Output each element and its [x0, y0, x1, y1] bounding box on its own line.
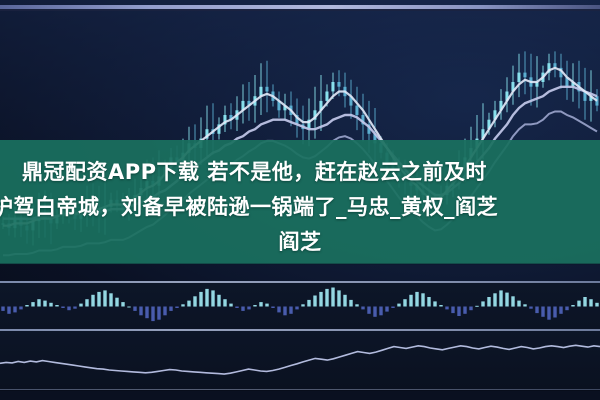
macd-histogram: [0, 283, 600, 330]
trend-line-chart: [0, 331, 600, 390]
macd-panel: [0, 283, 600, 330]
trend-line-path: [0, 345, 600, 374]
caption-line-3: 阎芝: [0, 227, 600, 257]
caption-line-1: 鼎冠配资APP下载 若不是他，赶在赵云之前及时: [22, 157, 487, 187]
banner-image: 鼎冠配资APP下载 若不是他，赶在赵云之前及时 护驾白帝城，刘备早被陆逊一锅端了…: [0, 0, 600, 400]
caption-block: 鼎冠配资APP下载 若不是他，赶在赵云之前及时 护驾白帝城，刘备早被陆逊一锅端了…: [0, 140, 600, 264]
footer-strip: [0, 391, 600, 400]
top-accent-line-shadow: [0, 9, 600, 11]
trend-line-panel: [0, 331, 600, 390]
caption-line-2: 护驾白帝城，刘备早被陆逊一锅端了_马忠_黄权_阎芝: [0, 192, 498, 222]
panel-divider-3: [0, 389, 600, 390]
